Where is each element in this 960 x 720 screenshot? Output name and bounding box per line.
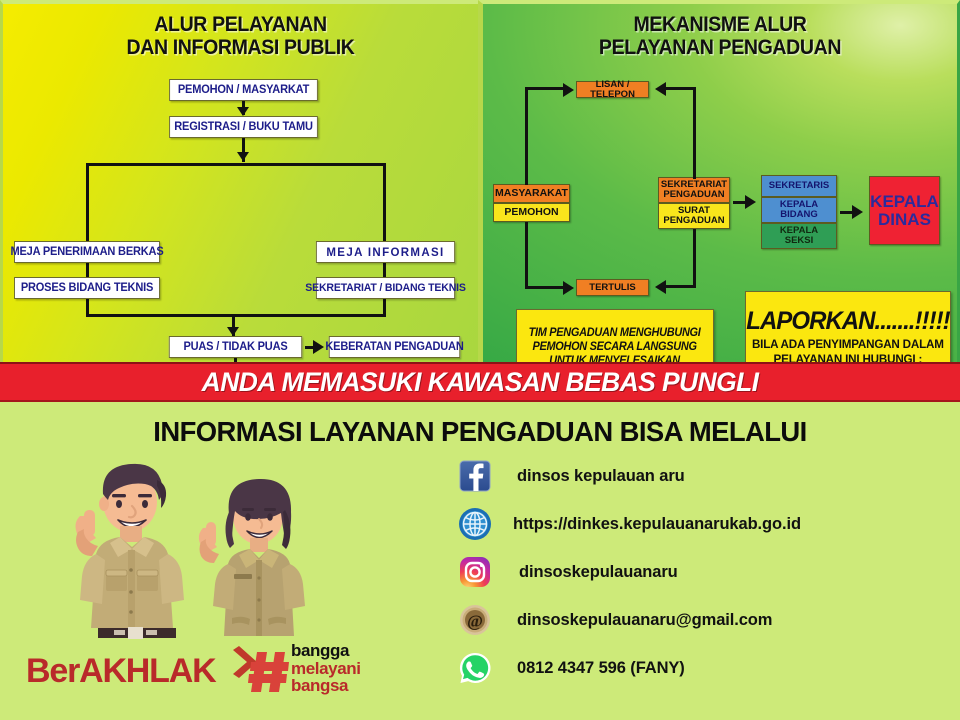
- flow-box-kepala-dinas: KEPALA DINAS: [869, 176, 940, 245]
- connector-down-to-tertulis-return: [663, 285, 696, 288]
- contact-row-email[interactable]: @ dinsoskepulauanaru@gmail.com: [455, 596, 955, 644]
- note-laporkan-head: LAPORKAN.......!!!!!: [746, 309, 949, 334]
- note-laporkan: LAPORKAN.......!!!!! BILA ADA PENYIMPANG…: [745, 291, 951, 362]
- bangga-tagline: bangga melayani bangsa: [291, 642, 361, 695]
- contact-row-website[interactable]: https://dinkes.kepulauanarukab.go.id: [455, 500, 955, 548]
- berakhlak-wordmark: BerAKHLAK: [26, 652, 215, 691]
- flow-box-puas: PUAS / TIDAK PUAS: [169, 336, 302, 358]
- flow-box-proses-bidang: PROSES BIDANG TEKNIS: [14, 277, 160, 299]
- flow-box-kepala-bidang: KEPALA BIDANG: [761, 197, 837, 223]
- arrow-right-to-keberatan: [313, 340, 324, 354]
- officials-illustration: [62, 450, 332, 650]
- left-flow-panel: ALUR PELAYANAN DAN INFORMASI PUBLIK PEMO…: [0, 0, 478, 362]
- bus-bar-bottom: [86, 314, 386, 317]
- right-flowchart: LISAN / TELEPON MASYARAKAT PEMOHON TERTU…: [483, 59, 957, 349]
- arrow-down-to-bus: [237, 152, 249, 161]
- svg-text:@: @: [467, 612, 483, 631]
- pungli-banner: ANDA MEMASUKI KAWASAN BEBAS PUNGLI: [0, 362, 960, 402]
- flow-box-sekretariat-pengaduan: SEKRETARIAT PENGADUAN: [658, 177, 730, 203]
- berakhlak-logo: BerAKHLAK bangga melayani bangsa: [26, 640, 356, 702]
- connector-up-to-lisan-return: [663, 87, 696, 90]
- flow-box-pemohon: PEMOHON / MASYARKAT: [169, 79, 318, 101]
- facebook-icon[interactable]: [455, 456, 495, 496]
- flow-box-tertulis: TERTULIS: [576, 279, 649, 296]
- connector-sekretariat-down: [693, 229, 696, 287]
- pungli-banner-text: ANDA MEMASUKI KAWASAN BEBAS PUNGLI: [202, 367, 759, 398]
- arrow-right-to-tertulis: [563, 281, 574, 295]
- left-title-line1: ALUR PELAYANAN: [20, 14, 462, 37]
- contact-row-whatsapp[interactable]: 0812 4347 596 (FANY): [455, 644, 955, 692]
- flow-box-sekretariat-bidang: SEKRETARIAT / BIDANG TEKNIS: [316, 277, 455, 299]
- right-panel-title: MEKANISME ALUR PELAYANAN PENGADUAN: [500, 4, 941, 59]
- flow-box-meja-penerimaan: MEJA PENERIMAAN BERKAS: [14, 241, 160, 263]
- flow-box-pemohon-right: PEMOHON: [493, 203, 570, 222]
- arrow-left-to-tertulis: [655, 280, 666, 294]
- tagline-line3: bangsa: [291, 677, 361, 695]
- connector-puas-selesai: [234, 358, 237, 362]
- connector-masyarakat-down: [525, 222, 528, 286]
- left-flowchart: PEMOHON / MASYARKAT REGISTRASI / BUKU TA…: [3, 59, 478, 345]
- connector-down-to-tertulis: [525, 286, 565, 289]
- flow-box-sekretaris: SEKRETARIS: [761, 175, 837, 197]
- whatsapp-number: 0812 4347 596 (FANY): [517, 659, 685, 678]
- globe-icon[interactable]: [455, 504, 495, 544]
- connector-sekretariat-up: [693, 87, 696, 179]
- flow-box-surat-pengaduan: SURAT PENGADUAN: [658, 203, 730, 229]
- instagram-handle: dinsoskepulauanaru: [519, 563, 678, 582]
- note-tim-pengaduan-text: TIM PENGADUAN MENGHUBUNGI PEMOHON SECARA…: [522, 326, 707, 362]
- bottom-heading: INFORMASI LAYANAN PENGADUAN BISA MELALUI: [10, 402, 951, 448]
- arrow-right-to-kepala-dinas: [852, 205, 863, 219]
- flow-box-masyarakat: MASYARAKAT: [493, 184, 570, 203]
- right-flow-panel: MEKANISME ALUR PELAYANAN PENGADUAN LISAN…: [478, 0, 960, 362]
- poster-root: ALUR PELAYANAN DAN INFORMASI PUBLIK PEMO…: [0, 0, 960, 720]
- right-title-line2: PELAYANAN PENGADUAN: [500, 37, 941, 60]
- contact-list: dinsos kepulauan aru: [455, 452, 955, 692]
- note-tim-pengaduan: TIM PENGADUAN MENGHUBUNGI PEMOHON SECARA…: [516, 309, 714, 362]
- bangga-melayani-hash-icon: [231, 644, 293, 698]
- left-panel-title: ALUR PELAYANAN DAN INFORMASI PUBLIK: [20, 4, 462, 59]
- instagram-icon[interactable]: [455, 552, 495, 592]
- right-title-line1: MEKANISME ALUR: [500, 14, 941, 37]
- email-address: dinsoskepulauanaru@gmail.com: [517, 611, 772, 630]
- email-at-icon[interactable]: @: [455, 600, 495, 640]
- top-banner: ALUR PELAYANAN DAN INFORMASI PUBLIK PEMO…: [0, 0, 960, 362]
- connector-up-to-lisan: [525, 87, 565, 90]
- left-title-line2: DAN INFORMASI PUBLIK: [20, 37, 462, 60]
- contact-row-instagram[interactable]: dinsoskepulauanaru: [455, 548, 955, 596]
- flow-box-lisan-telepon: LISAN / TELEPON: [576, 81, 649, 98]
- bus-bar-top: [86, 163, 386, 166]
- facebook-handle: dinsos kepulauan aru: [517, 467, 685, 486]
- whatsapp-icon[interactable]: [455, 648, 495, 688]
- arrow-down-to-registrasi: [237, 107, 249, 116]
- flow-box-kepala-seksi: KEPALA SEKSI: [761, 223, 837, 249]
- note-laporkan-body: BILA ADA PENYIMPANGAN DALAM PELAYANAN IN…: [752, 337, 944, 362]
- arrow-right-to-lisan: [563, 83, 574, 97]
- flow-box-meja-informasi: MEJA INFORMASI: [316, 241, 455, 263]
- tagline-line2: melayani: [291, 660, 361, 678]
- flow-box-keberatan: KEBERATAN PENGADUAN: [329, 336, 461, 358]
- tagline-line1: bangga: [291, 642, 361, 660]
- arrow-left-to-lisan: [655, 82, 666, 96]
- arrow-down-to-puas: [227, 327, 239, 336]
- website-url: https://dinkes.kepulauanarukab.go.id: [513, 515, 801, 534]
- flow-box-registrasi: REGISTRASI / BUKU TAMU: [169, 116, 318, 138]
- arrow-right-to-sekretaris: [745, 195, 756, 209]
- bottom-info-section: INFORMASI LAYANAN PENGADUAN BISA MELALUI: [0, 402, 960, 720]
- connector-masyarakat-up: [525, 87, 528, 185]
- contact-row-facebook[interactable]: dinsos kepulauan aru: [455, 452, 955, 500]
